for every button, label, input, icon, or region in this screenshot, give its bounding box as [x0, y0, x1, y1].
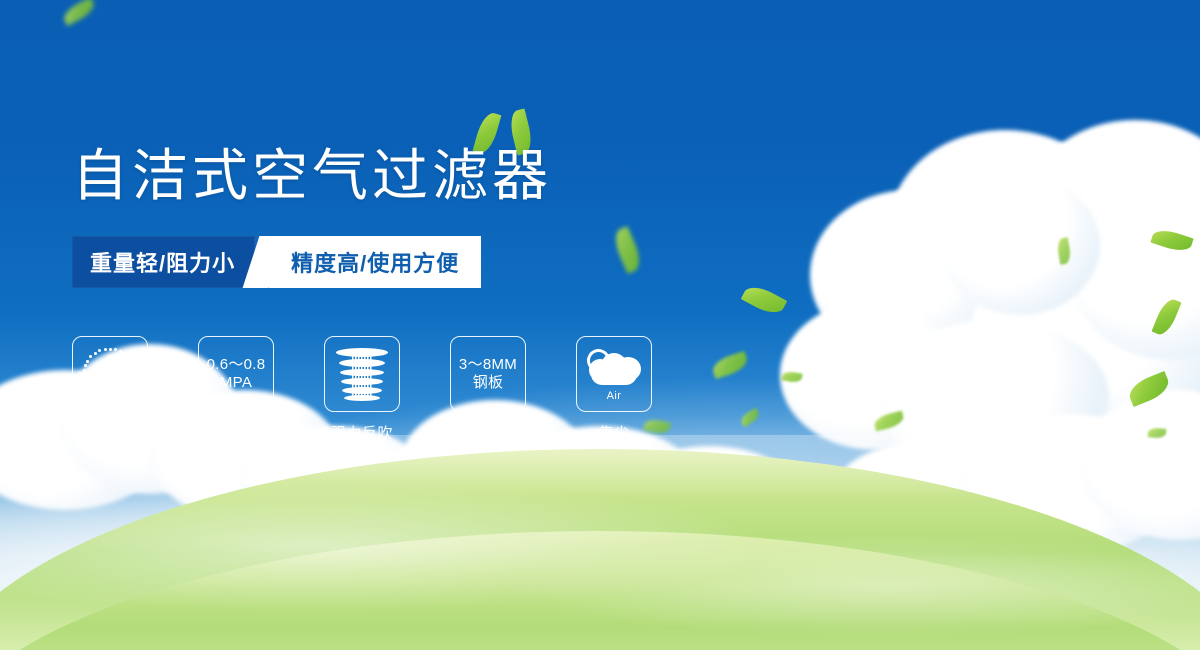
gauge-needle-icon: [106, 355, 115, 393]
pressure-value-line2: MPA: [220, 374, 252, 392]
steel-value-line2: 钢板: [473, 374, 504, 392]
feature-icon-box: NO OFF: [72, 336, 148, 412]
hero-banner: 自洁式空气过滤器 重量轻/阻力小 精度高/使用方便 NO OFF 控制仪: [0, 0, 1200, 650]
feature-icon-box: 0.6～0.8 MPA: [198, 336, 274, 412]
subtitle-left-band: 重量轻/阻力小: [72, 236, 255, 288]
feature-item-steel-strength[interactable]: 3～8MM 钢板 钢结构强度: [450, 336, 526, 443]
cloud-air-icon: [585, 347, 643, 389]
feature-label: 强力反吹: [331, 422, 393, 443]
feature-icon-box: 3～8MM 钢板: [450, 336, 526, 412]
gauge-on-label: NO: [78, 372, 88, 378]
feature-item-two-stage-filter[interactable]: 0.6～0.8 MPA 二级过滤: [198, 336, 274, 443]
feature-item-strong-backblow[interactable]: 强力反吹: [324, 336, 400, 443]
feature-item-dust-collection[interactable]: Air 集尘: [576, 336, 652, 443]
feature-list: NO OFF 控制仪 0.6～0.8 MPA 二级过滤: [72, 336, 652, 443]
steel-value-line1: 3～8MM: [459, 356, 517, 374]
feature-label: 控制仪: [87, 422, 134, 443]
gauge-icon: NO OFF: [79, 345, 141, 403]
feature-label: 集尘: [598, 422, 629, 443]
air-label: Air: [607, 390, 622, 402]
banner-content: 自洁式空气过滤器 重量轻/阻力小 精度高/使用方便 NO OFF 控制仪: [0, 0, 1200, 650]
filter-cartridge-icon: [335, 346, 389, 402]
banner-title: 自洁式空气过滤器: [72, 148, 552, 204]
feature-label: 二级过滤: [205, 422, 267, 443]
banner-subtitle: 重量轻/阻力小 精度高/使用方便: [72, 236, 481, 288]
gauge-off-label: OFF: [129, 394, 142, 400]
feature-item-controller[interactable]: NO OFF 控制仪: [72, 336, 148, 443]
feature-icon-box: [324, 336, 400, 412]
feature-icon-box: Air: [576, 336, 652, 412]
subtitle-right-band: 精度高/使用方便: [269, 236, 481, 288]
feature-label: 钢结构强度: [449, 422, 527, 443]
pressure-value-line1: 0.6～0.8: [207, 356, 266, 374]
